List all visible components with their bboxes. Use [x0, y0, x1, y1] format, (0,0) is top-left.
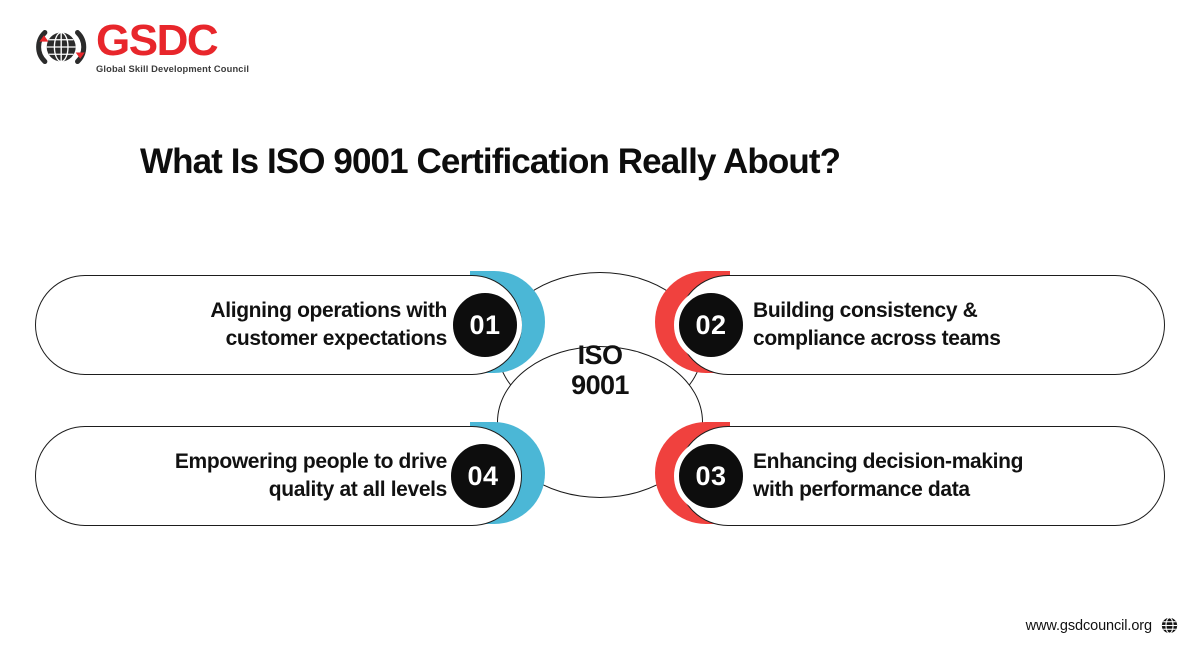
- card-04-number: 04: [467, 461, 498, 492]
- iso-diagram: ISO 9001 Aligning operations with custom…: [0, 0, 1200, 650]
- footer-url[interactable]: www.gsdcouncil.org: [1026, 618, 1152, 634]
- card-02-text: Building consistency & compliance across…: [753, 297, 1001, 352]
- card-03-text: Enhancing decision-making with performan…: [753, 448, 1023, 503]
- card-03[interactable]: Enhancing decision-making with performan…: [678, 426, 1165, 526]
- card-04-badge: 04: [446, 439, 520, 513]
- card-03-badge: 03: [674, 439, 748, 513]
- globe-icon: [1161, 617, 1178, 634]
- card-02[interactable]: Building consistency & compliance across…: [678, 275, 1165, 375]
- center-label-line2: 9001: [497, 370, 703, 400]
- card-02-number: 02: [695, 310, 726, 341]
- footer: www.gsdcouncil.org: [1026, 617, 1178, 634]
- card-01-text: Aligning operations with customer expect…: [210, 297, 447, 352]
- infographic-page: GSDC Global Skill Development Council Wh…: [0, 0, 1200, 650]
- card-04-text: Empowering people to drive quality at al…: [175, 448, 447, 503]
- card-01-number: 01: [469, 310, 500, 341]
- center-label-line1: ISO: [497, 340, 703, 370]
- center-label: ISO 9001: [497, 340, 703, 400]
- card-03-number: 03: [695, 461, 726, 492]
